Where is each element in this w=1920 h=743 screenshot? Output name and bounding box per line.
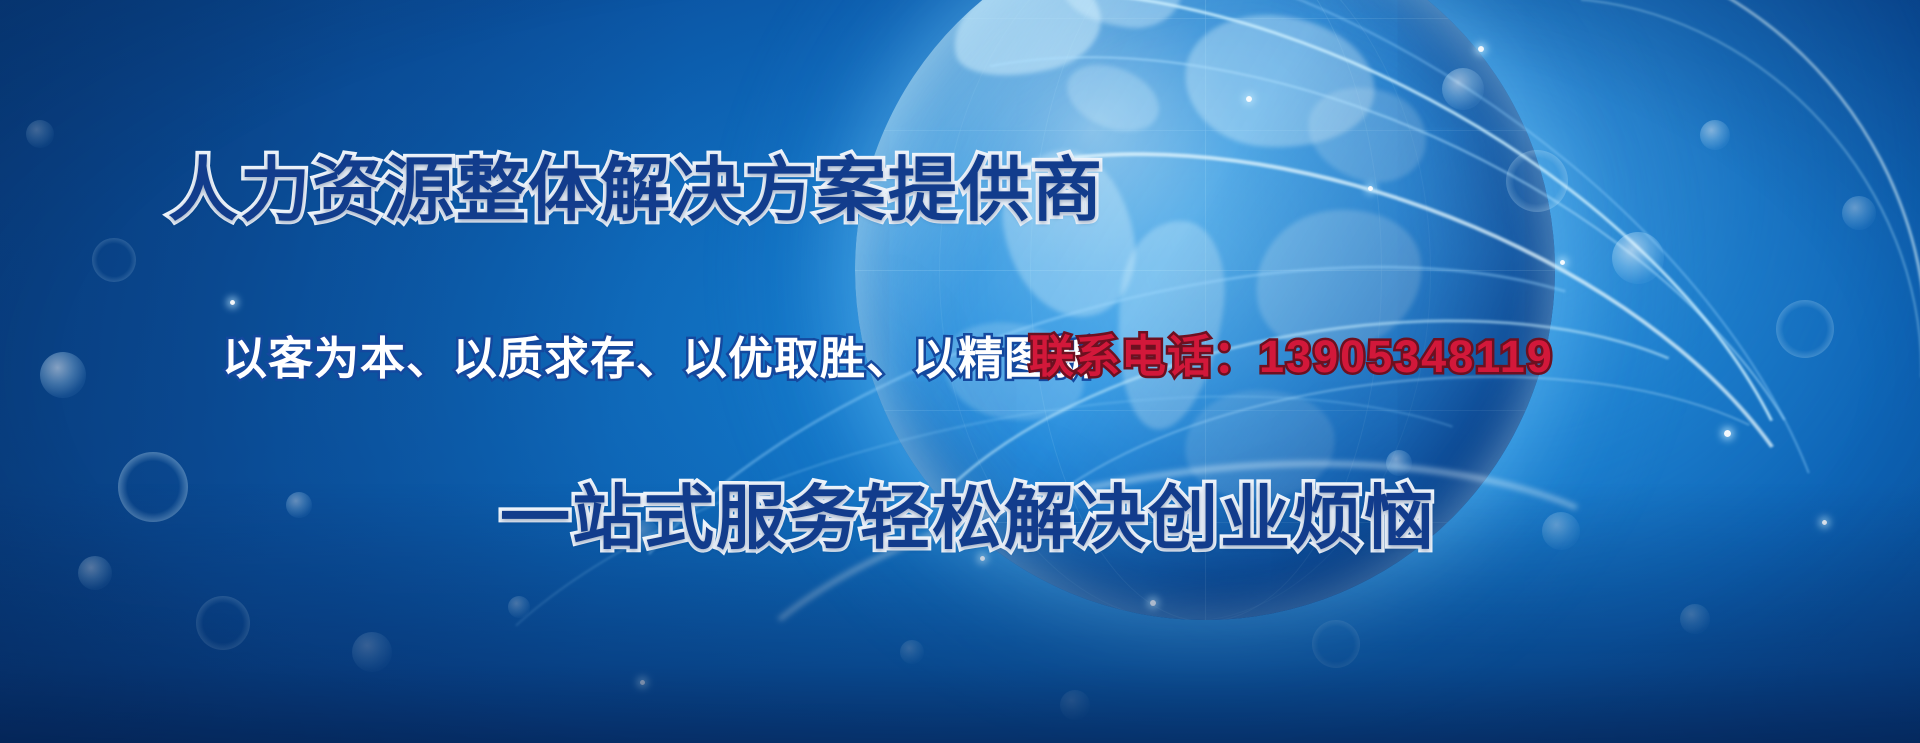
banner-tagline: 一站式服务轻松解决创业烦恼	[500, 462, 1436, 563]
banner-headline: 人力资源整体解决方案提供商	[168, 134, 1104, 235]
contact-block: 联系电话：13905348119	[1029, 320, 1554, 385]
contact-label: 联系电话：	[1029, 331, 1259, 382]
banner-slogan: 以客为本、以质求存、以优取胜、以精图新	[222, 322, 1096, 387]
promo-banner: 人力资源整体解决方案提供商 以客为本、以质求存、以优取胜、以精图新 联系电话：1…	[0, 0, 1920, 743]
contact-phone-number[interactable]: 13905348119	[1259, 331, 1554, 382]
banner-text-layer: 人力资源整体解决方案提供商 以客为本、以质求存、以优取胜、以精图新 联系电话：1…	[0, 0, 1920, 743]
